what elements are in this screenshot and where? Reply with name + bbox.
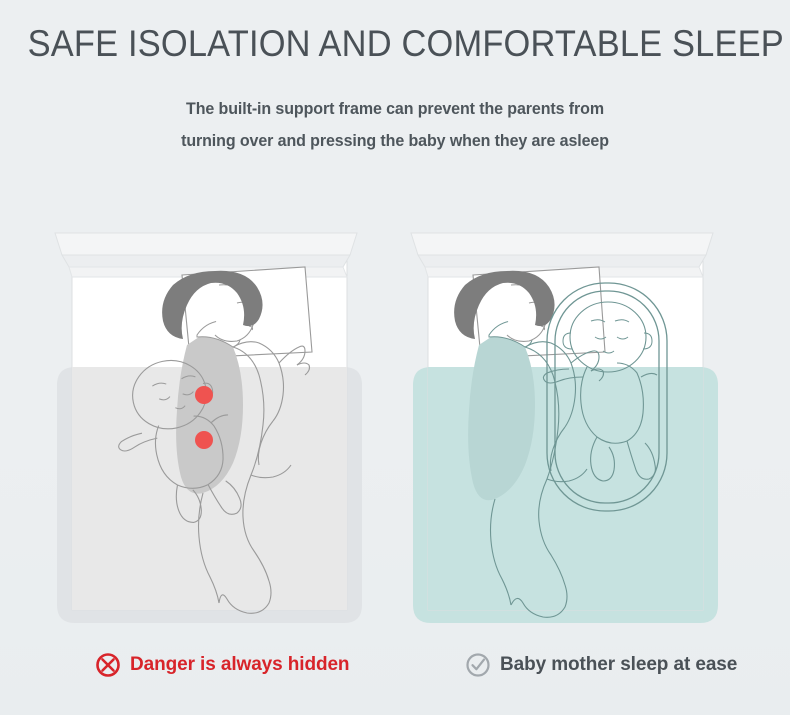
warning-dot-2 [195, 431, 213, 449]
promo-banner: SAFE ISOLATION AND COMFORTABLE SLEEP The… [0, 0, 790, 715]
warning-dot-1 [195, 386, 213, 404]
subtitle-line-2: turning over and pressing the baby when … [12, 132, 778, 151]
circle-x-icon [95, 652, 121, 678]
page-title: SAFE ISOLATION AND COMFORTABLE SLEEP [28, 22, 763, 66]
caption-danger-label: Danger is always hidden [130, 654, 349, 676]
caption-danger: Danger is always hidden [95, 648, 349, 682]
headboard [55, 233, 357, 277]
illustration-co-sleeping-danger [47, 225, 387, 630]
circle-check-icon [465, 652, 491, 678]
subtitle-line-1: The built-in support frame can prevent t… [12, 100, 778, 119]
caption-safe-label: Baby mother sleep at ease [500, 654, 737, 676]
page-subtitle: The built-in support frame can prevent t… [0, 100, 790, 164]
caption-safe: Baby mother sleep at ease [465, 648, 737, 682]
blanket [428, 367, 703, 610]
illustration-support-frame-safe [403, 225, 743, 630]
